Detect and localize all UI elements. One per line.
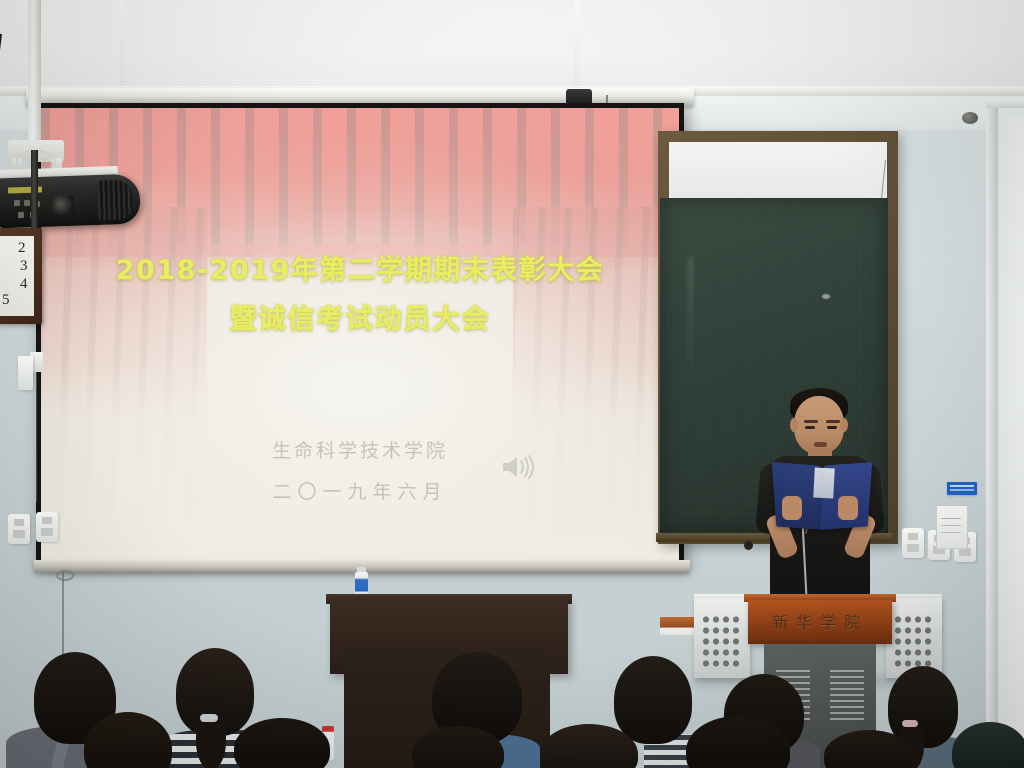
- clock-number: 5: [2, 292, 10, 309]
- wall-switch[interactable]: [18, 356, 33, 390]
- clock-number: 2: [18, 240, 26, 257]
- person-ear: [840, 418, 848, 432]
- wall-notice-label: [2, 330, 36, 343]
- ceiling-seam: [574, 0, 579, 90]
- clock-number: 4: [20, 276, 28, 293]
- chalkboard-top-panel: [669, 142, 887, 198]
- classroom-photo: 2018-2019年第二学期期末表彰大会 暨诚信考试动员大会 生命科学技术学院 …: [0, 0, 1024, 768]
- person-ear: [790, 418, 798, 432]
- person-hand: [782, 496, 802, 520]
- slide-subtitle-block: 生命科学技术学院 二〇一九年六月: [41, 442, 679, 502]
- ceiling: [0, 0, 1024, 96]
- screen-pull-ring[interactable]: [56, 570, 74, 581]
- slide-title-line-2: 暨诚信考试动员大会: [41, 306, 679, 333]
- slide-title-line-1: 2018-2019年第二学期期末表彰大会: [41, 257, 679, 284]
- chalkboard-mark: [822, 294, 830, 299]
- hair-tie: [200, 714, 218, 722]
- chalkboard-smudge: [688, 258, 693, 378]
- door-header: [986, 100, 1024, 108]
- person-eyebrow: [804, 420, 818, 423]
- audience-ponytail: [196, 714, 226, 768]
- slide-subtitle-line-2: 二〇一九年六月: [41, 483, 679, 502]
- projector-lens: [52, 196, 75, 217]
- folder-paper: [813, 467, 835, 498]
- power-socket[interactable]: [36, 512, 58, 542]
- slide-title-block: 2018-2019年第二学期期末表彰大会 暨诚信考试动员大会: [41, 257, 679, 333]
- hair-tie: [902, 720, 918, 727]
- audience-person-head: [234, 718, 330, 768]
- slide-subtitle-line-1: 生命科学技术学院: [41, 442, 679, 461]
- wall-fixture-knob: [962, 112, 978, 124]
- audience-seating: [0, 630, 1024, 768]
- audience-person-head: [614, 656, 692, 744]
- power-socket[interactable]: [8, 514, 30, 544]
- person-eyebrow: [826, 420, 840, 423]
- person-mouth: [814, 442, 827, 447]
- clock-number: 3: [20, 258, 28, 275]
- wall-cable: [36, 372, 37, 502]
- projector-mount-pole: [28, 0, 41, 152]
- projected-slide: 2018-2019年第二学期期末表彰大会 暨诚信考试动员大会 生命科学技术学院 …: [41, 108, 679, 560]
- projector-button[interactable]: [14, 200, 20, 206]
- ceiling-seam: [120, 0, 125, 90]
- projector-button[interactable]: [24, 200, 30, 206]
- projection-screen: 2018-2019年第二学期期末表彰大会 暨诚信考试动员大会 生命科学技术学院 …: [36, 103, 684, 565]
- speaker-icon: [500, 454, 534, 480]
- person-eye: [805, 426, 815, 429]
- power-socket[interactable]: [902, 528, 924, 558]
- person-hand: [838, 496, 858, 520]
- blue-wall-sign: [947, 482, 977, 495]
- audience-person-head: [952, 722, 1024, 768]
- projector-button[interactable]: [18, 212, 24, 218]
- wall-notice-sheet: [936, 505, 968, 549]
- speaker-person: [752, 388, 888, 618]
- projector-vent: [97, 179, 132, 220]
- person-eye: [827, 426, 837, 429]
